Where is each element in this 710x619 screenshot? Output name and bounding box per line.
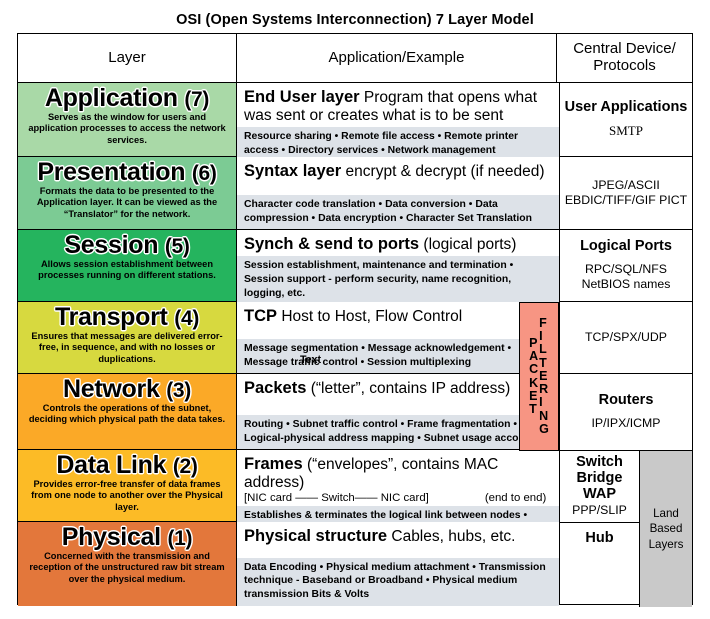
layer-cell-transport: Transport (4) Ensures that messages are … bbox=[18, 302, 237, 373]
packet-filtering-word-filtering: FILTERING bbox=[539, 303, 549, 450]
pf-letter-glyph: E bbox=[539, 370, 549, 383]
pf-letter-glyph: C bbox=[529, 363, 538, 376]
pf-letter: FILTERING bbox=[539, 317, 549, 436]
central-cell-session: Logical Ports RPC/SQL/NFS NetBIOS names bbox=[560, 230, 692, 302]
layer-name-presentation: Presentation (6) bbox=[23, 160, 231, 185]
example-subline-data-link: [NIC card —— Switch—— NIC card](end to e… bbox=[244, 492, 552, 506]
example-heading-session: Synch & send to ports (logical ports) bbox=[244, 235, 552, 254]
example-detail-presentation: Character code translation • Data conver… bbox=[237, 195, 559, 229]
layer-cell-physical: Physical (1) Concerned with the transmis… bbox=[18, 522, 237, 606]
central-cell-transport: TCP/SPX/UDP bbox=[560, 302, 692, 374]
detail-text-artifact: Text bbox=[300, 353, 321, 367]
central-protocol-data-link: PPP/SLIP bbox=[572, 503, 627, 518]
central-device-data-link-2: Bridge bbox=[577, 471, 623, 487]
example-cell-physical: Physical structure Cables, hubs, etc. Da… bbox=[237, 522, 559, 606]
example-heading-presentation: Syntax layer encrypt & decrypt (if neede… bbox=[244, 162, 552, 181]
example-detail-application: Resource sharing • Remote file access • … bbox=[237, 127, 559, 161]
central-device-session: Logical Ports bbox=[580, 239, 672, 255]
layer-rows: Application (7) Serves as the window for… bbox=[18, 83, 559, 604]
pf-letter-glyph: T bbox=[529, 403, 538, 416]
example-cell-data-link: Frames (“envelopes”, contains MAC addres… bbox=[237, 450, 559, 521]
example-heading-data-link: Frames (“envelopes”, contains MAC addres… bbox=[244, 455, 552, 492]
table-row: Presentation (6) Formats the data to be … bbox=[18, 157, 559, 230]
pf-letter-glyph: N bbox=[539, 410, 549, 423]
layer-name-data-link: Data Link (2) bbox=[23, 453, 231, 478]
pf-letter-glyph: K bbox=[529, 377, 538, 390]
example-cell-network: Packets (“letter”, contains IP address) … bbox=[237, 374, 559, 449]
central-device-application: User Applications bbox=[565, 100, 688, 116]
pf-letter-glyph: I bbox=[539, 396, 549, 409]
example-cell-application: End User layer Program that opens what w… bbox=[237, 83, 559, 156]
table-header-row: Layer Application/Example Central Device… bbox=[18, 34, 692, 83]
pf-letter-glyph: T bbox=[539, 357, 549, 370]
central-device-data-link-3: WAP bbox=[583, 487, 616, 503]
header-application-example: Application/Example bbox=[237, 34, 557, 82]
example-heading-application: End User layer Program that opens what w… bbox=[244, 88, 552, 125]
layer-description-transport: Ensures that messages are delivered erro… bbox=[23, 331, 231, 365]
table-row: Network (3) Controls the operations of t… bbox=[18, 374, 559, 450]
central-cell-presentation: JPEG/ASCII EBDIC/TIFF/GIF PICT bbox=[560, 157, 692, 230]
example-cell-presentation: Syntax layer encrypt & decrypt (if neede… bbox=[237, 157, 559, 229]
central-cell-physical: Hub bbox=[560, 523, 639, 607]
pf-letter-glyph: A bbox=[529, 350, 538, 363]
central-device-data-link-1: Switch bbox=[576, 455, 623, 471]
table-row: Application (7) Serves as the window for… bbox=[18, 83, 559, 157]
example-detail-network: Routing • Subnet traffic control • Frame… bbox=[237, 415, 559, 449]
central-protocol-application: SMTP bbox=[609, 123, 643, 139]
central-cell-network: Routers IP/IPX/ICMP bbox=[560, 374, 692, 451]
pf-letter-glyph: I bbox=[539, 330, 549, 343]
example-heading-network: Packets (“letter”, contains IP address) bbox=[244, 379, 552, 398]
layer-description-presentation: Formats the data to be presented to the … bbox=[23, 186, 231, 220]
layer-description-application: Serves as the window for users and appli… bbox=[23, 112, 231, 146]
layer-name-session: Session (5) bbox=[23, 233, 231, 258]
layer-name-application: Application (7) bbox=[23, 86, 231, 111]
layer-name-physical: Physical (1) bbox=[23, 525, 231, 550]
table-row: Data Link (2) Provides error-free transf… bbox=[18, 450, 559, 522]
layer-description-network: Controls the operations of the subnet, d… bbox=[23, 403, 231, 426]
header-layer: Layer bbox=[18, 34, 237, 82]
pf-letter-glyph: G bbox=[539, 423, 549, 436]
central-protocol-network: IP/IPX/ICMP bbox=[591, 416, 660, 431]
layer-cell-data-link: Data Link (2) Provides error-free transf… bbox=[18, 450, 237, 521]
example-heading-transport: TCP Host to Host, Flow Control bbox=[244, 307, 552, 326]
example-detail-transport: Message segmentation • Message acknowled… bbox=[237, 339, 559, 373]
central-cell-data-link: Switch Bridge WAP PPP/SLIP bbox=[560, 451, 639, 523]
header-central-line1: Central Device/ bbox=[573, 41, 676, 58]
central-protocol-session-1: RPC/SQL/NFS bbox=[585, 262, 667, 277]
layer-name-network: Network (3) bbox=[23, 377, 231, 402]
layer-cell-network: Network (3) Controls the operations of t… bbox=[18, 374, 237, 449]
central-protocol-session-2: NetBIOS names bbox=[582, 277, 671, 292]
layer-cell-presentation: Presentation (6) Formats the data to be … bbox=[18, 157, 237, 229]
central-protocol-transport: TCP/SPX/UDP bbox=[585, 330, 667, 345]
central-device-lower-group: Switch Bridge WAP PPP/SLIP Hub bbox=[560, 451, 640, 607]
pf-letter: PACKET bbox=[529, 337, 538, 417]
central-device-physical: Hub bbox=[585, 531, 613, 547]
pf-letter-glyph: E bbox=[529, 390, 538, 403]
layer-description-physical: Concerned with the transmission and rece… bbox=[23, 551, 231, 585]
central-device-column: User Applications SMTP JPEG/ASCII EBDIC/… bbox=[559, 83, 692, 604]
layer-name-transport: Transport (4) bbox=[23, 305, 231, 330]
table-row: Transport (4) Ensures that messages are … bbox=[18, 302, 559, 374]
pf-letter-glyph: P bbox=[529, 337, 538, 350]
page-title: OSI (Open Systems Interconnection) 7 Lay… bbox=[0, 12, 710, 28]
packet-filtering-word-packet: PACKET bbox=[529, 303, 538, 450]
table-row: Physical (1) Concerned with the transmis… bbox=[18, 522, 559, 606]
layer-description-session: Allows session establishment between pro… bbox=[23, 259, 231, 282]
example-detail-physical: Data Encoding • Physical medium attachme… bbox=[237, 558, 559, 606]
header-central-line2: Protocols bbox=[573, 58, 676, 75]
pf-letter-glyph: R bbox=[539, 383, 549, 396]
land-based-layers-label: Land Based Layers bbox=[640, 451, 692, 607]
osi-model-diagram: OSI (Open Systems Interconnection) 7 Lay… bbox=[0, 0, 710, 619]
osi-table: Layer Application/Example Central Device… bbox=[17, 33, 693, 605]
central-cell-lower-layers: Switch Bridge WAP PPP/SLIP Hub Land Base… bbox=[560, 451, 692, 607]
layer-description-data-link: Provides error-free transfer of data fra… bbox=[23, 479, 231, 513]
pf-letter-glyph: F bbox=[539, 317, 549, 330]
central-protocol-presentation: JPEG/ASCII EBDIC/TIFF/GIF PICT bbox=[563, 178, 689, 208]
example-heading-physical: Physical structure Cables, hubs, etc. bbox=[244, 527, 552, 546]
packet-filtering-band: PACKET FILTERING bbox=[519, 302, 559, 451]
table-body: Application (7) Serves as the window for… bbox=[18, 83, 692, 604]
layer-cell-application: Application (7) Serves as the window for… bbox=[18, 83, 237, 156]
pf-letter-glyph: L bbox=[539, 343, 549, 356]
layer-cell-session: Session (5) Allows session establishment… bbox=[18, 230, 237, 301]
example-cell-transport: TCP Host to Host, Flow Control Message s… bbox=[237, 302, 559, 373]
table-row: Session (5) Allows session establishment… bbox=[18, 230, 559, 302]
example-cell-session: Synch & send to ports (logical ports) Se… bbox=[237, 230, 559, 301]
central-device-network: Routers bbox=[599, 393, 654, 409]
central-cell-application: User Applications SMTP bbox=[560, 83, 692, 157]
example-detail-session: Session establishment, maintenance and t… bbox=[237, 256, 559, 303]
header-central-device-protocols: Central Device/ Protocols bbox=[557, 34, 692, 82]
